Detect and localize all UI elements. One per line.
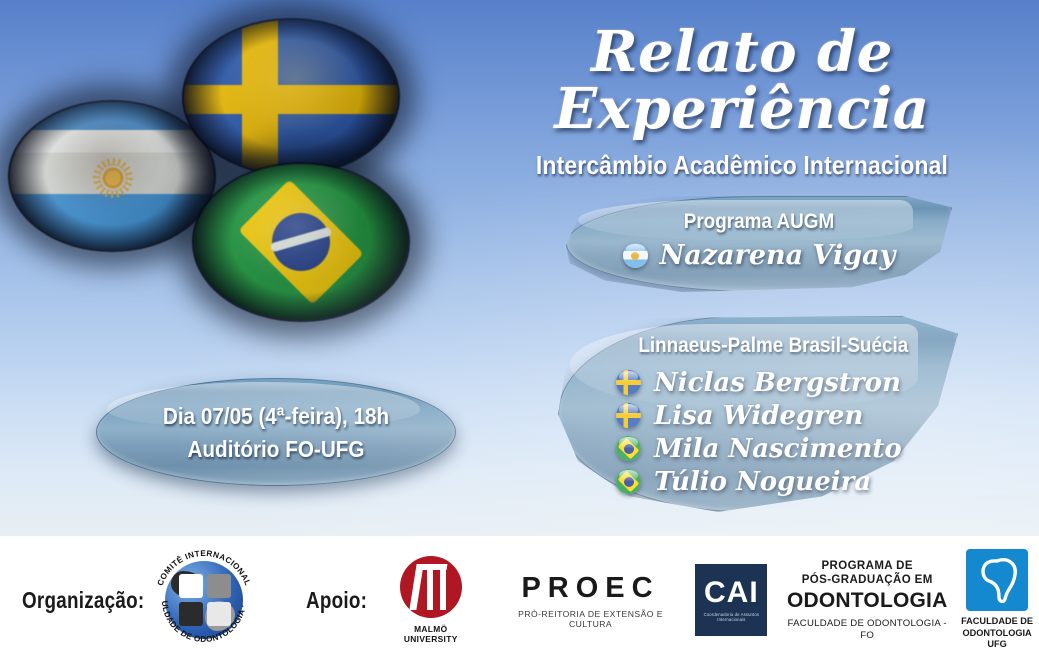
participant-row: Niclas Bergstron: [616, 366, 958, 399]
malmo-mark-icon: [400, 556, 462, 618]
committee-seal-icon: COMITÊ INTERNACIONAL FACULDADE DE ODONTO…: [152, 548, 256, 652]
program-panel-augm: Programa AUGM Nazarena Vigay: [566, 196, 952, 292]
cai-wordmark: CAI: [704, 578, 759, 608]
proec-logo: PROEC PRÓ-REITORIA DE EXTENSÃO E CULTURA: [498, 572, 684, 629]
ppg-odontologia-logo: PROGRAMA DE PÓS-GRADUAÇÃO EM ODONTOLOGIA…: [779, 559, 955, 642]
tooth-icon: [966, 549, 1028, 611]
brazil-flag-icon: [616, 436, 641, 461]
participant-name: Niclas Bergstron: [654, 368, 901, 398]
proec-caption: PRÓ-REITORIA DE EXTENSÃO E CULTURA: [498, 609, 684, 629]
brazil-flag-icon: [616, 469, 641, 494]
participant-name: Mila Nascimento: [654, 434, 902, 464]
argentina-flag-face: [10, 102, 214, 250]
event-date: Dia 07/05 (4ª-feira), 18h: [114, 400, 438, 433]
sweden-flag-icon: [616, 370, 641, 395]
participant-name: Lisa Widegren: [654, 401, 863, 431]
argentina-flag-icon: [623, 243, 648, 268]
footer-logo-bar: Organização: COMITÊ INTERNACIONAL FACULD…: [0, 536, 1039, 664]
proec-wordmark: PROEC: [498, 572, 684, 605]
sweden-flag-face: [184, 20, 398, 174]
program-title-linnaeus-palme: Linnaeus-Palme Brasil-Suécia: [578, 316, 938, 358]
page-subtitle: Intercâmbio Acadêmico Internacional: [487, 150, 997, 181]
flag-faces-collage: [8, 6, 438, 326]
ppg-line-4: FACULDADE DE ODONTOLOGIA - FO: [779, 618, 955, 642]
malmo-university-logo: MALMÖ UNIVERSITY: [392, 556, 498, 644]
support-label: Apoio:: [306, 587, 376, 614]
event-venue: Auditório FO-UFG: [114, 433, 438, 466]
seal-arc-top: COMITÊ INTERNACIONAL: [156, 549, 253, 587]
poster-stage: Relato de Experiência Intercâmbio Acadêm…: [0, 0, 1039, 536]
malmo-caption: MALMÖ UNIVERSITY: [392, 624, 470, 644]
fo-ufg-caption: FACULDADE DE ODONTOLOGIA UFG: [955, 616, 1039, 651]
program-panel-linnaeus-palme: Linnaeus-Palme Brasil-Suécia Niclas Berg…: [558, 316, 958, 512]
participant-row: Túlio Nogueira: [616, 465, 958, 498]
program-title-augm: Programa AUGM: [585, 196, 932, 234]
organization-label: Organização:: [22, 587, 129, 614]
ppg-line-3: ODONTOLOGIA: [779, 588, 955, 614]
fo-ufg-logo: FACULDADE DE ODONTOLOGIA UFG: [955, 549, 1039, 651]
ppg-line-2: PÓS-GRADUAÇÃO EM: [779, 573, 955, 587]
participant-row: Mila Nascimento: [616, 432, 958, 465]
page-title: Relato de Experiência: [452, 24, 1032, 138]
participant-row: Lisa Widegren: [616, 399, 958, 432]
organization-logo: COMITÊ INTERNACIONAL FACULDADE DE ODONTO…: [152, 548, 272, 652]
participant-row: Nazarena Vigay: [566, 240, 952, 271]
cai-caption: Coordenadoria de Assuntos Internacionais: [695, 612, 767, 622]
participant-list: Niclas Bergstron Lisa Widegren Mila Nasc…: [558, 366, 958, 498]
event-details-panel: Dia 07/05 (4ª-feira), 18h Auditório FO-U…: [96, 378, 456, 486]
participant-name: Nazarena Vigay: [660, 240, 896, 271]
headline-block: Relato de Experiência Intercâmbio Acadêm…: [452, 24, 1032, 181]
cai-logo: CAI Coordenadoria de Assuntos Internacio…: [683, 564, 779, 636]
ppg-line-1: PROGRAMA DE: [779, 559, 955, 573]
sweden-flag-icon: [616, 403, 641, 428]
poster-root: Relato de Experiência Intercâmbio Acadêm…: [0, 0, 1039, 664]
svg-text:COMITÊ INTERNACIONAL: COMITÊ INTERNACIONAL: [156, 549, 253, 587]
brazil-flag-face: [194, 164, 408, 320]
participant-name: Túlio Nogueira: [654, 467, 871, 497]
